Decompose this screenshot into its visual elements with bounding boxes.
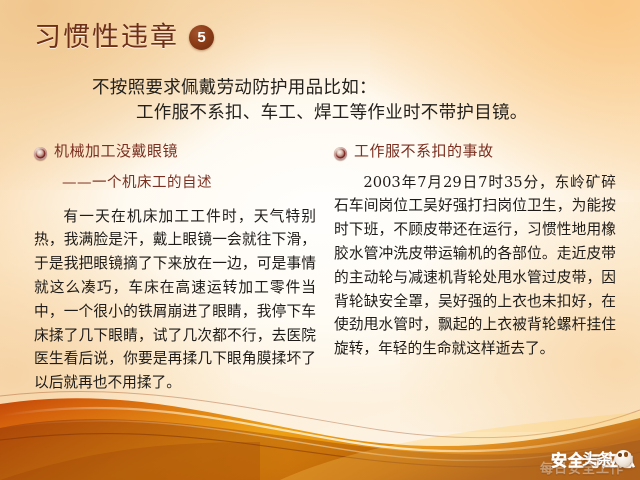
toutiao-label: 头条 [582, 448, 612, 469]
content-columns: 机械加工没戴眼镜 ——一个机床工的自述 有一天在机床加工工件时，天气特别热，我满… [34, 142, 616, 395]
column-left-heading-row: 机械加工没戴眼镜 [34, 142, 316, 162]
page-title: 习惯性违章 [34, 24, 179, 51]
slide-canvas: 习惯性违章 5 不按照要求佩戴劳动防护用品比如： 工作服不系扣、车工、焊工等作业… [0, 0, 640, 480]
column-right-heading: 工作服不系扣的事故 [354, 142, 494, 162]
column-right: 工作服不系扣的事故 2003年7月29日7时35分，东岭矿碎石车间岗位工吴好强打… [334, 142, 616, 395]
section-number-badge: 5 [189, 25, 214, 50]
toutiao-circle-logo-icon [615, 450, 632, 467]
slide-subtitle: 不按照要求佩戴劳动防护用品比如： 工作服不系扣、车工、焊工等作业时不带护目镜。 [92, 76, 626, 127]
column-right-heading-row: 工作服不系扣的事故 [334, 142, 616, 162]
subtitle-line-2: 工作服不系扣、车工、焊工等作业时不带护目镜。 [92, 101, 626, 126]
subtitle-line-1: 不按照要求佩戴劳动防护用品比如： [92, 78, 377, 98]
column-left-body: 有一天在机床加工工件时，天气特别热，我满脸是汗，戴上眼镜一会就往下滑，于是我把眼… [34, 205, 316, 396]
column-right-body: 2003年7月29日7时35分，东岭矿碎石车间岗位工吴好强打扫岗位卫生，为能按时… [334, 171, 616, 362]
column-left-subheading: ——一个机床工的自述 [62, 171, 316, 192]
slide-header: 习惯性违章 5 [34, 24, 214, 51]
dark-red-ring-bullet-icon [334, 147, 347, 160]
dark-red-ring-bullet-icon [34, 147, 47, 160]
column-left: 机械加工没戴眼镜 ——一个机床工的自述 有一天在机床加工工件时，天气特别热，我满… [34, 142, 316, 395]
toutiao-watermark: 头条 [582, 448, 632, 469]
column-left-heading: 机械加工没戴眼镜 [54, 142, 178, 162]
